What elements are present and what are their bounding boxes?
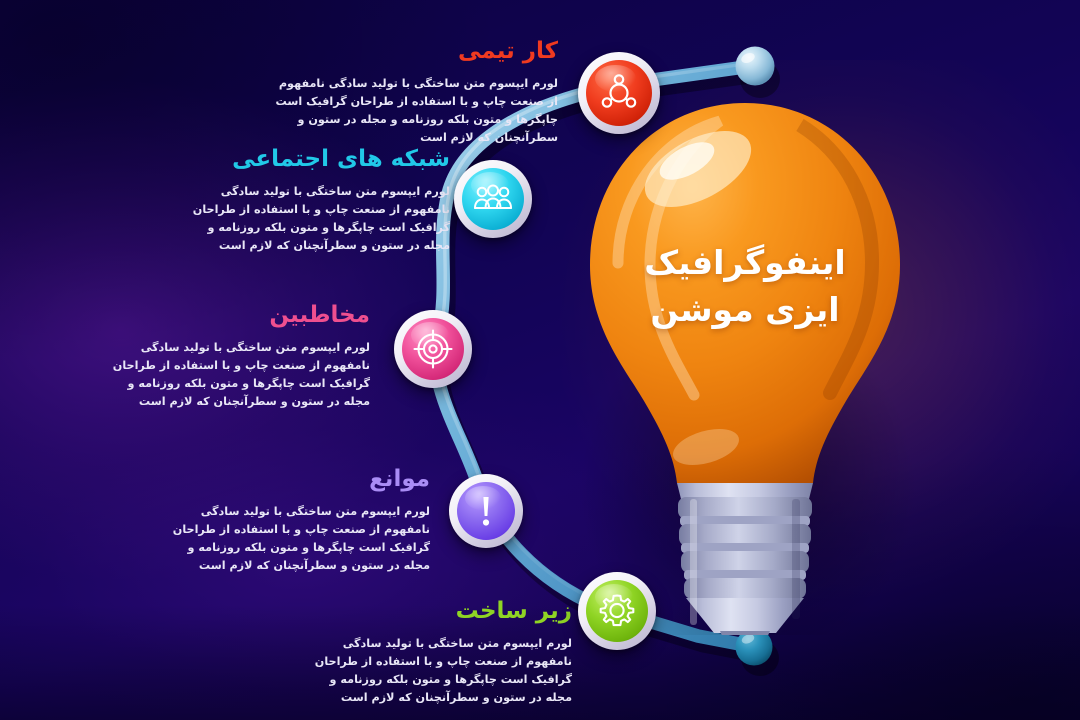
light-bulb: اینفوگرافیک ایزی موشن bbox=[570, 95, 920, 635]
bulb-base-ring bbox=[678, 497, 812, 519]
bulb-title-line-1: اینفوگرافیک bbox=[570, 240, 920, 287]
step-body-audience: لورم ایپسوم متن ساختگی با تولید سادگی نا… bbox=[108, 339, 370, 412]
step-icon-node-teamwork[interactable] bbox=[578, 52, 660, 134]
step-block-infrastructure: زیر ساخت لورم ایپسوم متن ساختگی با تولید… bbox=[300, 598, 572, 707]
step-heading-audience: مخاطبین bbox=[108, 302, 370, 330]
bulb-base-ring bbox=[684, 578, 806, 599]
bulb-title: اینفوگرافیک ایزی موشن bbox=[570, 240, 920, 334]
target-crosshair-icon bbox=[413, 329, 453, 369]
step-block-obstacles: موانع لورم ایپسوم متن ساختگی با تولید سا… bbox=[168, 466, 430, 575]
people-group-icon bbox=[473, 183, 513, 215]
step-body-obstacles: لورم ایپسوم متن ساختگی با تولید سادگی نا… bbox=[168, 503, 430, 576]
bulb-base-ring bbox=[679, 524, 811, 546]
step-block-audience: مخاطبین لورم ایپسوم متن ساختگی با تولید … bbox=[108, 302, 370, 411]
step-block-social-networks: شبکه های اجتماعی لورم ایپسوم متن ساختگی … bbox=[178, 146, 450, 255]
step-icon-node-infrastructure[interactable] bbox=[578, 572, 656, 650]
bulb-base-ring bbox=[681, 551, 809, 573]
gear-icon bbox=[597, 591, 637, 631]
step-heading-social-networks: شبکه های اجتماعی bbox=[178, 146, 450, 174]
step-icon-node-obstacles[interactable] bbox=[449, 474, 523, 548]
step-body-teamwork: لورم ایپسوم متن ساختگی با تولید سادگی نا… bbox=[268, 75, 558, 148]
step-heading-obstacles: موانع bbox=[168, 466, 430, 494]
network-share-icon bbox=[599, 73, 639, 113]
exclamation-icon bbox=[471, 492, 501, 530]
step-block-teamwork: کار تیمی لورم ایپسوم متن ساختگی با تولید… bbox=[268, 38, 558, 147]
step-icon-node-audience[interactable] bbox=[394, 310, 472, 388]
step-body-social-networks: لورم ایپسوم متن ساختگی با تولید سادگی نا… bbox=[178, 183, 450, 256]
endpoint-sphere-top bbox=[736, 47, 775, 86]
step-heading-teamwork: کار تیمی bbox=[268, 38, 558, 66]
step-icon-node-social-networks[interactable] bbox=[454, 160, 532, 238]
step-body-infrastructure: لورم ایپسوم متن ساختگی با تولید سادگی نا… bbox=[300, 635, 572, 708]
bulb-title-line-2: ایزی موشن bbox=[570, 287, 920, 334]
step-heading-infrastructure: زیر ساخت bbox=[300, 598, 572, 626]
infographic-canvas: اینفوگرافیک ایزی موشن کار تیمی لورم ایپس… bbox=[0, 0, 1080, 720]
